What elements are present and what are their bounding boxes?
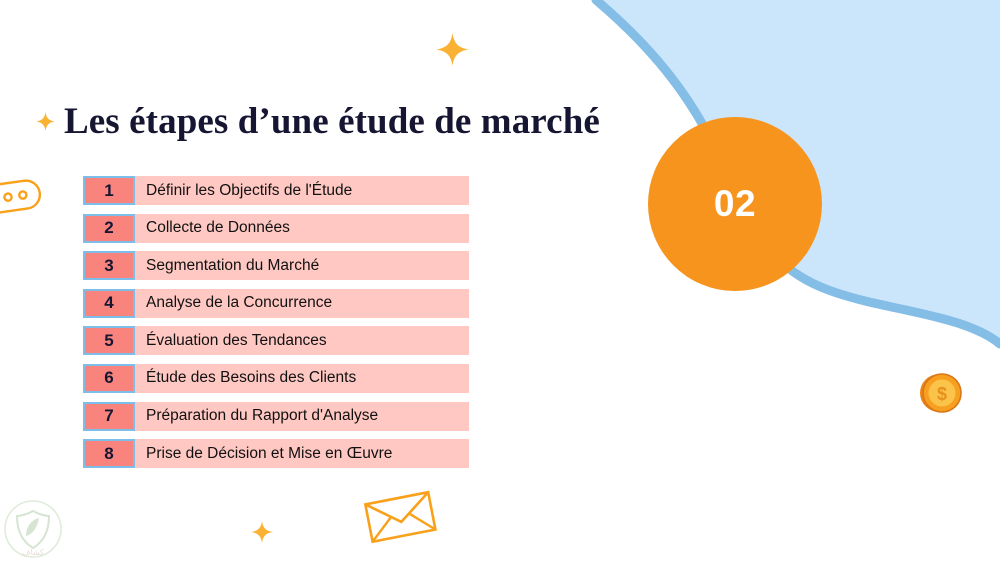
step-label: Évaluation des Tendances bbox=[135, 326, 469, 355]
section-number-circle: 02 bbox=[648, 117, 822, 291]
step-number-badge: 8 bbox=[83, 439, 135, 468]
slide-canvas: Les étapes d’une étude de marché 1 Défin… bbox=[0, 0, 1000, 562]
step-number-badge: 5 bbox=[83, 326, 135, 355]
step-number-badge: 6 bbox=[83, 364, 135, 393]
sparkle-icon bbox=[251, 521, 273, 543]
step-label: Collecte de Données bbox=[135, 214, 469, 243]
blue-blob-helper bbox=[740, 287, 1000, 300]
banknote-icon bbox=[0, 173, 44, 221]
list-item[interactable]: 1 Définir les Objectifs de l'Étude bbox=[83, 176, 469, 205]
list-item[interactable]: 3 Segmentation du Marché bbox=[83, 251, 469, 280]
svg-text:$: $ bbox=[937, 384, 947, 404]
sparkle-icon bbox=[436, 33, 469, 66]
step-label: Prise de Décision et Mise en Œuvre bbox=[135, 439, 469, 468]
step-number-badge: 3 bbox=[83, 251, 135, 280]
list-item[interactable]: 7 Préparation du Rapport d'Analyse bbox=[83, 402, 469, 431]
slide-title-row: Les étapes d’une étude de marché bbox=[36, 95, 600, 147]
step-number-badge: 1 bbox=[83, 176, 135, 205]
step-label: Préparation du Rapport d'Analyse bbox=[135, 402, 469, 431]
step-label: Segmentation du Marché bbox=[135, 251, 469, 280]
step-number-badge: 2 bbox=[83, 214, 135, 243]
page-title: Les étapes d’une étude de marché bbox=[64, 103, 600, 140]
list-item[interactable]: 4 Analyse de la Concurrence bbox=[83, 289, 469, 318]
list-item[interactable]: 2 Collecte de Données bbox=[83, 214, 469, 243]
svg-text:كشاف: كشاف bbox=[22, 548, 44, 557]
list-item[interactable]: 5 Évaluation des Tendances bbox=[83, 326, 469, 355]
list-item[interactable]: 8 Prise de Décision et Mise en Œuvre bbox=[83, 439, 469, 468]
steps-list: 1 Définir les Objectifs de l'Étude 2 Col… bbox=[83, 176, 469, 477]
shield-logo-icon: كشاف bbox=[2, 498, 64, 560]
coin-dollar-icon: $ bbox=[916, 368, 966, 418]
envelope-icon bbox=[362, 486, 438, 544]
step-label: Analyse de la Concurrence bbox=[135, 289, 469, 318]
sparkle-icon bbox=[36, 112, 55, 131]
step-label: Définir les Objectifs de l'Étude bbox=[135, 176, 469, 205]
list-item[interactable]: 6 Étude des Besoins des Clients bbox=[83, 364, 469, 393]
section-number-label: 02 bbox=[714, 183, 756, 225]
step-label: Étude des Besoins des Clients bbox=[135, 364, 469, 393]
step-number-badge: 7 bbox=[83, 402, 135, 431]
step-number-badge: 4 bbox=[83, 289, 135, 318]
